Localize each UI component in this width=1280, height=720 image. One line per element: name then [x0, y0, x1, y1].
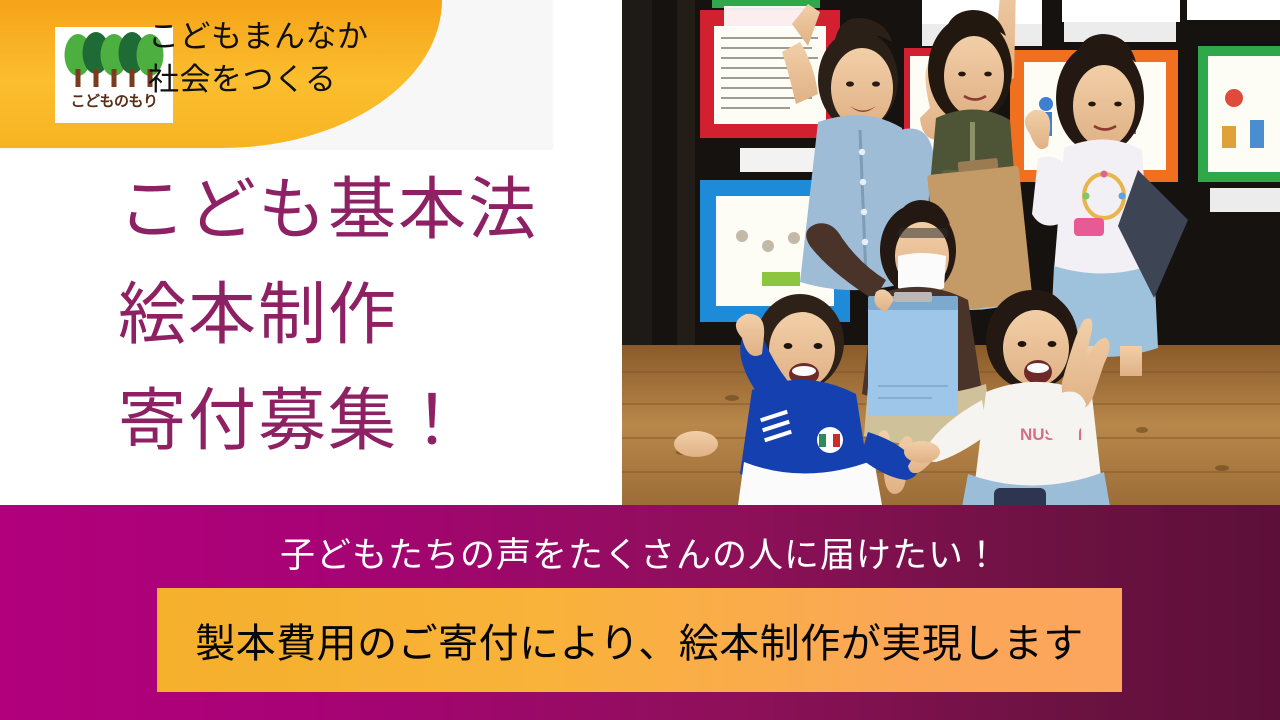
logo-wordmark: こどものもり	[70, 94, 157, 109]
header-slogan: こどもまんなか 社会をつくる	[148, 16, 408, 102]
clipboard-blue	[868, 292, 958, 416]
title-line-3: 寄付募集！	[0, 369, 622, 474]
poster-title: こども基本法 絵本制作 寄付募集！	[0, 150, 622, 505]
donation-callout-box: 製本費用のご寄付により、絵本制作が実現します	[157, 588, 1122, 692]
title-line-2: 絵本制作	[0, 263, 622, 368]
header-panel: こどものもり こどもまんなか 社会をつくる	[0, 0, 553, 150]
donation-callout-text: 製本費用のご寄付により、絵本制作が実現します	[195, 611, 1084, 669]
title-line-1: こども基本法	[0, 158, 622, 263]
band-headline: 子どもたちの声をたくさんの人に届けたい！	[0, 527, 1280, 578]
poster-green-right	[1198, 46, 1280, 182]
photo-illustration: NUSAM	[622, 0, 1280, 505]
campaign-photo: NUSAM	[622, 0, 1280, 505]
call-to-action-band: 子どもたちの声をたくさんの人に届けたい！ 製本費用のご寄付により、絵本制作が実現…	[0, 505, 1280, 720]
donation-campaign-poster: こどものもり こどもまんなか 社会をつくる こども基本法 絵本制作 寄付募集！	[0, 0, 1280, 720]
